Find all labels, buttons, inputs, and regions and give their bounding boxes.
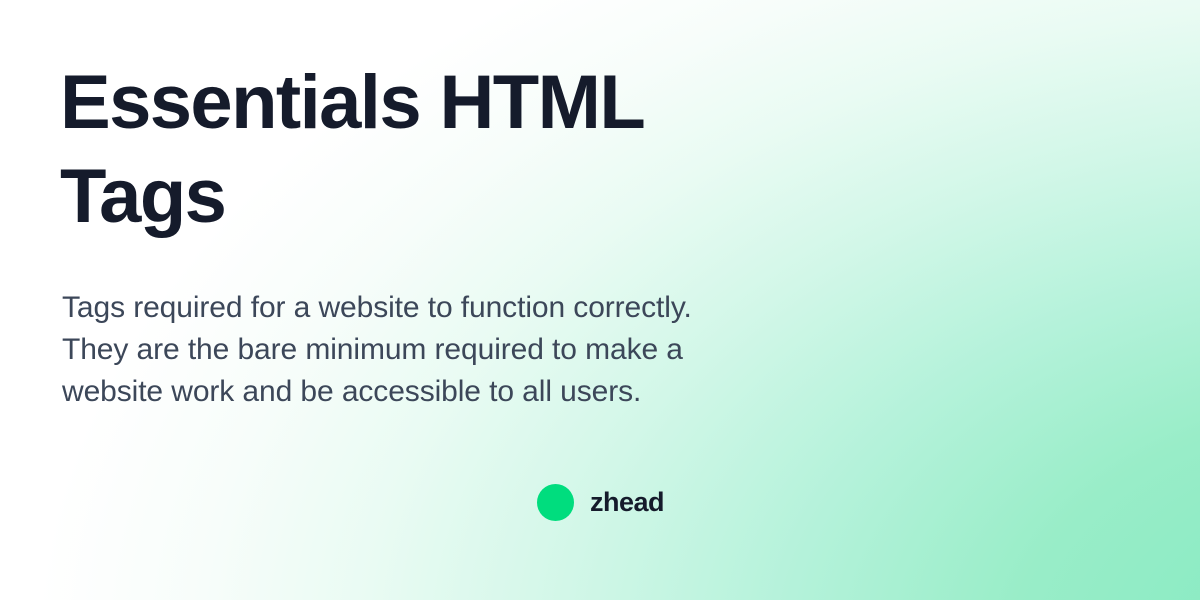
brand-logo: zhead [537,484,664,521]
card-content: Essentials HTML Tags Tags required for a… [0,0,1200,600]
green-circle-icon [537,484,574,521]
brand-wordmark: zhead [590,489,664,516]
page-title: Essentials HTML Tags [60,56,740,244]
social-share-card: Essentials HTML Tags Tags required for a… [0,0,1200,600]
page-description: Tags required for a website to function … [62,287,762,413]
